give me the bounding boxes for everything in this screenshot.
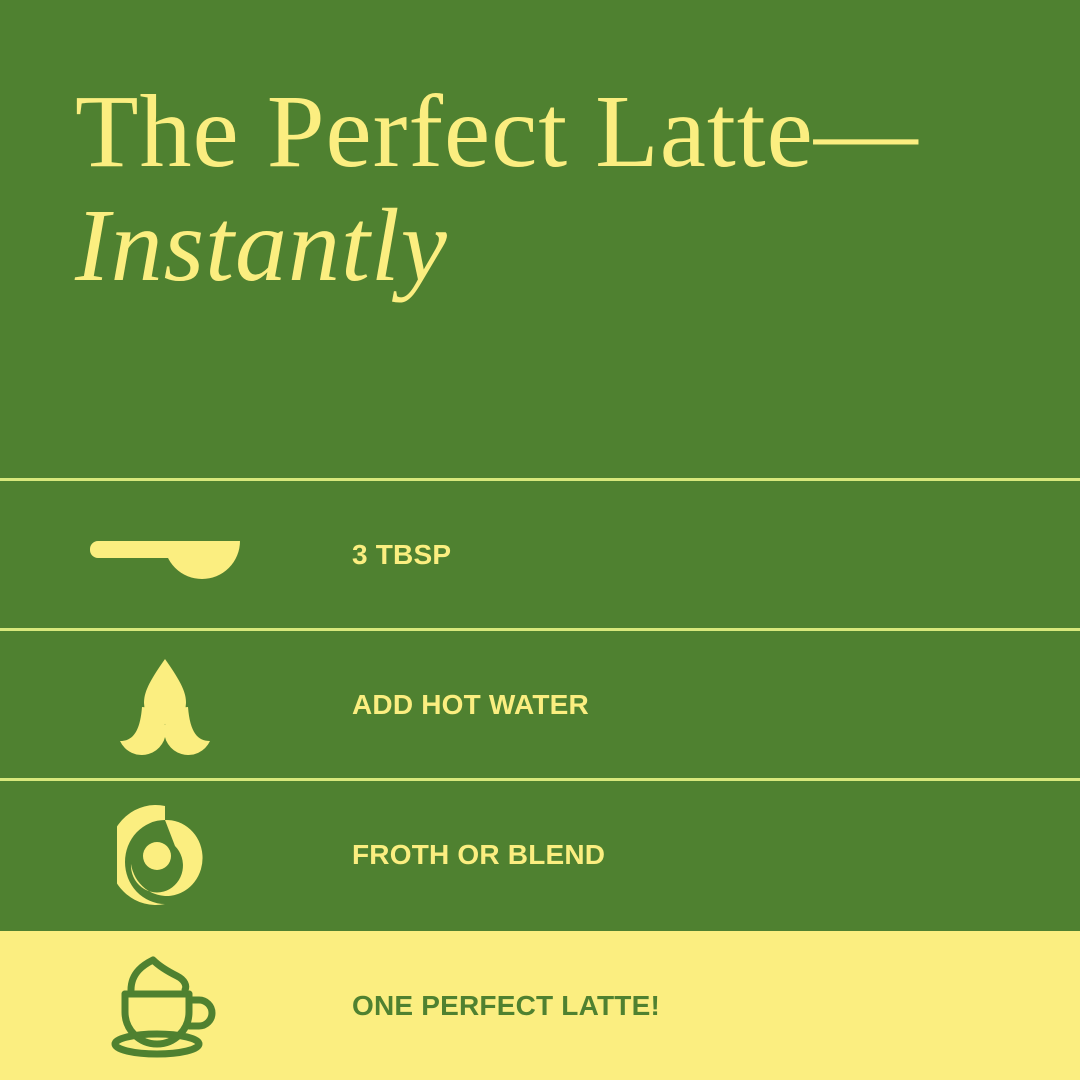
step-4-icon-cell <box>0 950 330 1062</box>
step-row-1: 3 TBSP <box>0 478 1080 628</box>
step-2-label-cell: ADD HOT WATER <box>330 689 1080 721</box>
step-row-4: ONE PERFECT LATTE! <box>0 928 1080 1080</box>
title-line-2: Instantly <box>75 192 995 300</box>
page-title: The Perfect Latte— Instantly <box>75 78 995 300</box>
step-label: 3 TBSP <box>352 539 1080 571</box>
step-label: FROTH OR BLEND <box>352 839 1080 871</box>
steps-list: 3 TBSP ADD HOT WATER <box>0 478 1080 1080</box>
step-row-2: ADD HOT WATER <box>0 628 1080 778</box>
step-label: ONE PERFECT LATTE! <box>352 990 1080 1022</box>
step-1-label-cell: 3 TBSP <box>330 539 1080 571</box>
step-label: ADD HOT WATER <box>352 689 1080 721</box>
step-1-icon-cell <box>0 515 330 595</box>
step-3-icon-cell <box>0 804 330 906</box>
step-4-label-cell: ONE PERFECT LATTE! <box>330 990 1080 1022</box>
latte-recipe-poster: The Perfect Latte— Instantly 3 TBSP <box>0 0 1080 1080</box>
water-droplets-icon <box>112 655 218 755</box>
froth-swirl-icon <box>117 804 213 906</box>
title-line-1: The Perfect Latte— <box>75 78 995 186</box>
step-3-label-cell: FROTH OR BLEND <box>330 839 1080 871</box>
latte-cup-icon <box>105 950 225 1062</box>
scoop-icon <box>90 515 240 595</box>
step-row-3: FROTH OR BLEND <box>0 778 1080 928</box>
step-2-icon-cell <box>0 655 330 755</box>
